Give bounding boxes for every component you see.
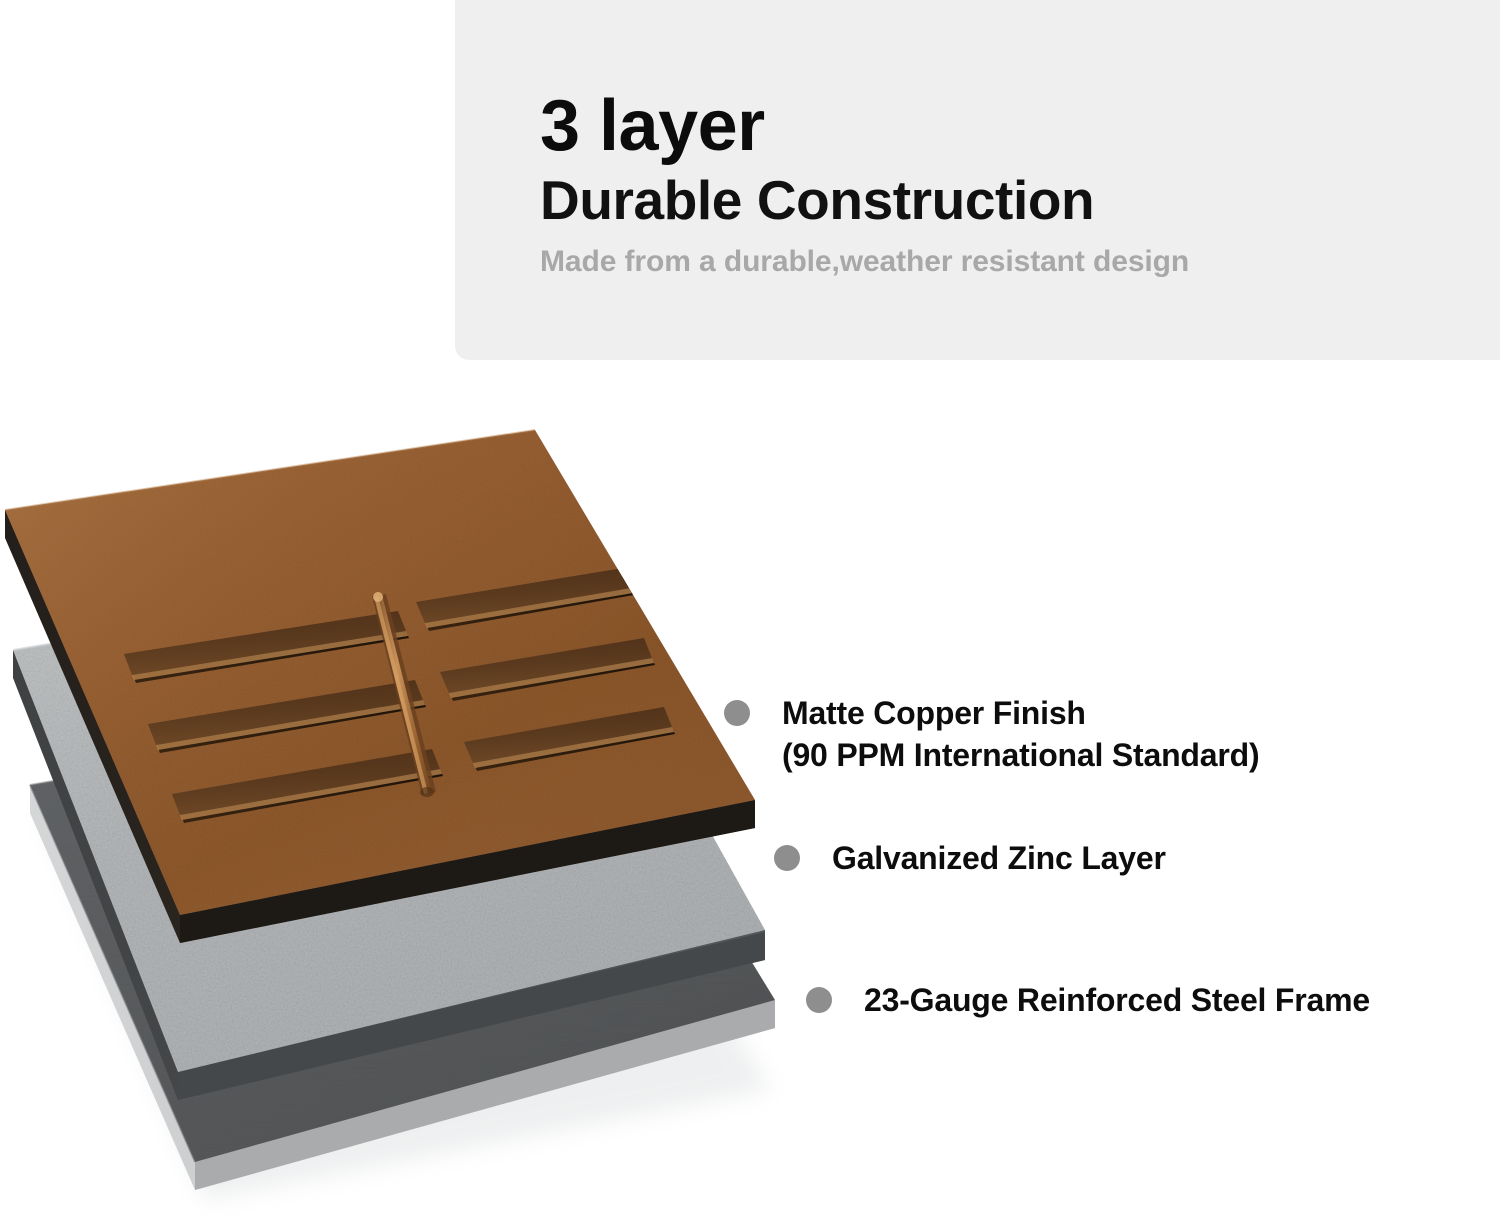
page-title: 3 layer xyxy=(540,90,1440,162)
callout-galvanized-zinc-layer[interactable]: Galvanized Zinc Layer xyxy=(774,838,1166,880)
header-text-block: 3 layer Durable Construction Made from a… xyxy=(540,90,1440,280)
callout-line-1: Matte Copper Finish xyxy=(782,695,1086,731)
callout-label: Matte Copper Finish (90 PPM Internationa… xyxy=(782,693,1259,776)
bullet-dot-icon xyxy=(724,700,750,726)
callout-label: Galvanized Zinc Layer xyxy=(832,838,1166,880)
callout-reinforced-steel-frame[interactable]: 23-Gauge Reinforced Steel Frame xyxy=(806,980,1370,1022)
page-tagline: Made from a durable,weather resistant de… xyxy=(540,244,1440,280)
bullet-dot-icon xyxy=(774,845,800,871)
callout-line-2: (90 PPM International Standard) xyxy=(782,735,1259,777)
page-subtitle: Durable Construction xyxy=(540,172,1440,230)
infographic-canvas: 3 layer Durable Construction Made from a… xyxy=(0,0,1500,1216)
exploded-layer-stack xyxy=(0,400,820,1216)
callout-line-1: 23-Gauge Reinforced Steel Frame xyxy=(864,982,1370,1018)
callout-line-1: Galvanized Zinc Layer xyxy=(832,840,1166,876)
bullet-dot-icon xyxy=(806,987,832,1013)
callout-label: 23-Gauge Reinforced Steel Frame xyxy=(864,980,1370,1022)
header-panel: 3 layer Durable Construction Made from a… xyxy=(455,0,1500,360)
callout-matte-copper-finish[interactable]: Matte Copper Finish (90 PPM Internationa… xyxy=(724,693,1259,776)
layer-stack-illustration xyxy=(0,400,820,1216)
